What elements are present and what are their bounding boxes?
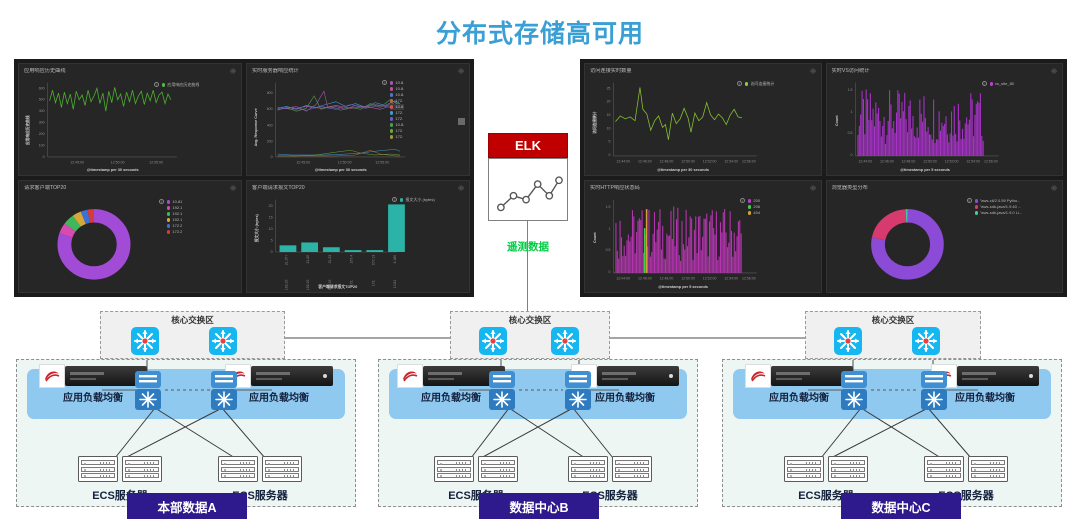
switch-icon[interactable] — [834, 327, 862, 355]
load-balancer-label: 应用负载均衡 — [225, 389, 333, 404]
svg-text:12:50:00: 12:50:00 — [923, 160, 937, 164]
panel-app-response-history[interactable]: 应用响应历史曲线 600 500 400 300 200 100 0 应用响应历… — [18, 63, 242, 176]
plot-area: 1.5 1 0.5 0 Count 12:44:00 12:46:00 12:4… — [585, 192, 821, 292]
legend: i vs_site_80 — [990, 81, 1015, 87]
core-switch-zone-c: 核心交换区 — [805, 311, 981, 359]
svg-text:12:54:00: 12:54:00 — [966, 160, 980, 164]
server-icon[interactable] — [434, 456, 474, 482]
svg-text:21.26: 21.26 — [306, 255, 310, 264]
legend-item[interactable]: "aws-sdk-java/1.9.0 Li... — [975, 210, 1023, 216]
panel-server-response-stats[interactable]: 实时服务器响应统计 800 600 400 200 0 Avg. Respons… — [246, 63, 470, 176]
svg-text:192.16: 192.16 — [284, 280, 288, 291]
server-icon[interactable] — [218, 456, 258, 482]
server-icon[interactable] — [262, 456, 302, 482]
dashboard-right: 访问连接实时数量 25 20 15 10 5 0 访问连接统计 12:44:00… — [580, 59, 1067, 297]
brand-logo-icon — [745, 364, 771, 388]
info-icon[interactable]: i — [982, 81, 987, 86]
svg-text:1.5: 1.5 — [606, 205, 611, 209]
svg-text:访问连接统计: 访问连接统计 — [592, 111, 597, 133]
svg-text:12:46:00: 12:46:00 — [638, 160, 652, 164]
load-balancer-device — [39, 364, 147, 388]
datacenter-badge: 本部数据A — [127, 493, 247, 519]
svg-text:21.37 l: 21.37 l — [284, 255, 288, 265]
switch-icon[interactable] — [209, 370, 239, 412]
svg-text:@timestamp per 5 seconds: @timestamp per 5 seconds — [900, 168, 950, 172]
svg-text:0: 0 — [43, 155, 45, 159]
server-icons — [431, 456, 521, 482]
legend-label: 172.2 — [172, 229, 182, 235]
server-icon[interactable] — [924, 456, 964, 482]
legend-item[interactable]: 172.2 — [167, 229, 182, 235]
core-zone-label: 核心交换区 — [806, 314, 980, 326]
panel-title: 客户端请求报文TOP20 — [252, 185, 464, 192]
elk-chart-box — [488, 158, 568, 221]
svg-text:报文大小 (bytes): 报文大小 (bytes) — [254, 213, 259, 243]
svg-text:12:55:00: 12:55:00 — [375, 161, 389, 165]
server-icon[interactable] — [612, 456, 652, 482]
svg-text:0: 0 — [609, 270, 611, 274]
datacenter-b: 应用负载均衡 应用负载均衡 ECS服务器 ECS服务器 数据中心B — [378, 359, 698, 507]
svg-text:3.186: 3.186 — [393, 255, 397, 264]
gear-icon[interactable] — [810, 68, 816, 74]
svg-text:20: 20 — [607, 100, 611, 104]
core-zone-label: 核心交换区 — [451, 314, 609, 326]
svg-text:12:56:00: 12:56:00 — [742, 277, 756, 281]
panel-client-payload-top20[interactable]: 客户端请求报文TOP20 20 15 10 5 0 报文大小 (bytes) 2… — [246, 180, 470, 293]
svg-text:200: 200 — [39, 132, 45, 136]
svg-text:10: 10 — [269, 227, 273, 231]
plot-area — [827, 192, 1063, 292]
svg-text:12:55:00: 12:55:00 — [149, 161, 163, 165]
plot-area — [19, 192, 241, 292]
load-balancer-left[interactable]: 应用负载均衡 — [745, 364, 853, 406]
brand-logo-icon — [397, 364, 423, 388]
panel-title: 请求客户端TOP20 — [24, 185, 236, 192]
switch-icon[interactable] — [209, 327, 237, 355]
legend-item[interactable]: vs_site_80 — [990, 81, 1015, 87]
svg-text:12:44:00: 12:44:00 — [616, 160, 630, 164]
svg-text:12:50:00: 12:50:00 — [111, 161, 125, 165]
server-icon[interactable] — [78, 456, 118, 482]
svg-text:Count: Count — [834, 115, 838, 126]
datacenter-c: 应用负载均衡 应用负载均衡 ECS服务器 ECS服务器 数据中心C — [722, 359, 1062, 507]
server-icon[interactable] — [784, 456, 824, 482]
svg-text:100: 100 — [39, 143, 45, 147]
svg-text:12:44:00: 12:44:00 — [858, 160, 872, 164]
svg-text:0: 0 — [609, 153, 611, 157]
server-icon[interactable] — [478, 456, 518, 482]
legend-item[interactable]: 404 — [748, 210, 760, 216]
telemetry-label: 遥测数据 — [488, 239, 568, 254]
info-icon[interactable]: i — [159, 199, 164, 204]
legend: i 应用响应历史曲线 — [162, 82, 199, 88]
svg-text:12:52:00: 12:52:00 — [703, 160, 717, 164]
switch-icon[interactable] — [133, 370, 163, 412]
server-icons — [565, 456, 655, 482]
svg-text:1: 1 — [850, 110, 852, 114]
svg-text:192.16: 192.16 — [306, 280, 310, 291]
svg-text:12:50:00: 12:50:00 — [681, 160, 695, 164]
legend: i "aws-cli/2.0.59 Pytho... "aws-sdk-java… — [975, 198, 1023, 216]
svg-text:12:48:00: 12:48:00 — [660, 277, 674, 281]
svg-text:@timestamp per 30 seconds: @timestamp per 30 seconds — [657, 168, 709, 172]
svg-text:600: 600 — [39, 86, 45, 90]
datacenter-badge: 数据中心C — [841, 493, 961, 519]
legend: i 10.81 192.1 192.1 192.1 172.2 172.2 — [167, 199, 182, 235]
svg-text:12:50:00: 12:50:00 — [338, 161, 352, 165]
plot-area: 25 20 15 10 5 0 访问连接统计 12:44:00 12:46:00… — [585, 75, 821, 175]
svg-text:@timestamp per 30 seconds: @timestamp per 30 seconds — [315, 168, 367, 172]
legend-label: "aws-sdk-java/1.9.0 Li... — [980, 210, 1022, 216]
panel-title: 访问连接实时数量 — [590, 68, 816, 75]
panel-resize-handle[interactable] — [458, 118, 465, 125]
load-balancer-left[interactable]: 应用负载均衡 — [39, 364, 147, 406]
svg-text:0: 0 — [271, 155, 273, 159]
svg-text:20: 20 — [269, 204, 273, 208]
legend-swatch — [162, 83, 165, 86]
switch-icon[interactable] — [487, 370, 517, 412]
page-title: 分布式存储高可用 — [0, 14, 1080, 50]
server-icons — [215, 456, 305, 482]
svg-text:@timestamp per 30 seconds: @timestamp per 30 seconds — [87, 168, 139, 172]
svg-text:10: 10 — [607, 126, 611, 130]
svg-text:12:45:00: 12:45:00 — [296, 161, 310, 165]
svg-text:167.4: 167.4 — [350, 255, 354, 264]
server-icon[interactable] — [122, 456, 162, 482]
info-icon[interactable]: i — [392, 197, 397, 202]
load-balancer-label: 应用负载均衡 — [745, 389, 853, 404]
svg-text:0: 0 — [271, 250, 273, 254]
gear-icon[interactable] — [458, 68, 464, 74]
datacenter-a: 应用负载均衡 应用负载均衡 ECS服务器 ECS服务 — [16, 359, 356, 507]
info-icon[interactable]: i — [967, 198, 972, 203]
dashboard-left: 应用响应历史曲线 600 500 400 300 200 100 0 应用响应历… — [14, 59, 474, 297]
svg-text:12:56:00: 12:56:00 — [742, 160, 756, 164]
svg-text:0: 0 — [850, 153, 852, 157]
svg-text:客户端请求报文TOP20: 客户端请求报文TOP20 — [317, 284, 357, 289]
load-balancer-right[interactable]: 应用负载均衡 — [225, 364, 333, 406]
svg-text:12:56:00: 12:56:00 — [984, 160, 998, 164]
legend: i 报文大小 (bytes) — [400, 197, 435, 203]
info-icon[interactable]: i — [740, 198, 745, 203]
plot-area: 20 15 10 5 0 报文大小 (bytes) 21.37 l 21.26 … — [247, 192, 469, 292]
switch-icon[interactable] — [912, 327, 940, 355]
svg-text:10.81: 10.81 — [393, 280, 397, 289]
elk-connector-line — [527, 221, 528, 314]
svg-text:21.23: 21.23 — [328, 255, 332, 264]
legend-item[interactable]: 应用响应历史曲线 — [162, 82, 199, 88]
legend-item[interactable]: 172. — [390, 134, 404, 140]
svg-text:600: 600 — [267, 107, 273, 111]
panel-title: 应用响应历史曲线 — [24, 68, 236, 75]
server-icons — [781, 456, 871, 482]
svg-text:应用响应历史曲线: 应用响应历史曲线 — [25, 115, 30, 145]
svg-text:172.: 172. — [371, 280, 375, 287]
server-icon[interactable] — [568, 456, 608, 482]
appliance-chassis — [597, 366, 679, 386]
panel-connection-count[interactable]: 访问连接实时数量 25 20 15 10 5 0 访问连接统计 12:44:00… — [584, 63, 822, 176]
svg-text:1.5: 1.5 — [847, 88, 852, 92]
svg-text:12:48:00: 12:48:00 — [901, 160, 915, 164]
server-icons — [921, 456, 1011, 482]
legend: i 200 206 404 — [748, 198, 760, 216]
info-icon[interactable]: i — [382, 80, 387, 85]
svg-text:Count: Count — [593, 232, 597, 243]
legend-label: 172. — [395, 134, 403, 140]
info-icon[interactable]: i — [737, 81, 742, 86]
svg-text:12:48:00: 12:48:00 — [660, 160, 674, 164]
chassis-indicator — [323, 374, 327, 378]
panel-title: 实时服务器响应统计 — [252, 68, 464, 75]
svg-text:12:50:00: 12:50:00 — [681, 277, 695, 281]
gear-icon[interactable] — [230, 185, 236, 191]
svg-text:0.5: 0.5 — [606, 248, 611, 252]
load-balancer-label: 应用负载均衡 — [39, 389, 147, 404]
load-balancer-device — [225, 364, 333, 388]
svg-text:5: 5 — [609, 140, 611, 144]
datacenter-badge: 数据中心B — [479, 493, 599, 519]
legend: i 10.8. 10.8. 10.8. 172. 10.8. 172. 172.… — [390, 80, 404, 140]
switch-icon[interactable] — [479, 327, 507, 355]
svg-text:12:45:00: 12:45:00 — [70, 161, 84, 165]
legend-label: 404 — [753, 210, 760, 216]
plot-area: 1.5 1 0.5 0 Count 12:44:00 12:46:00 12:4… — [827, 75, 1063, 175]
svg-text:400: 400 — [39, 109, 45, 113]
brand-logo-icon — [39, 364, 65, 388]
svg-text:800: 800 — [267, 91, 273, 95]
legend-item[interactable]: 访问连接统计 — [745, 81, 774, 87]
svg-text:12:54:00: 12:54:00 — [724, 160, 738, 164]
svg-text:25: 25 — [607, 86, 611, 90]
panel-title: 实时HTTP响应状态码 — [590, 185, 816, 192]
svg-text:12:46:00: 12:46:00 — [638, 277, 652, 281]
gear-icon[interactable] — [1051, 185, 1057, 191]
svg-text:15: 15 — [607, 113, 611, 117]
switch-icon[interactable] — [551, 327, 579, 355]
appliance-chassis — [251, 366, 333, 386]
panel-title: 实时VS访问统计 — [832, 68, 1058, 75]
server-icon[interactable] — [828, 456, 868, 482]
svg-text:15: 15 — [269, 216, 273, 220]
legend-label: 应用响应历史曲线 — [167, 82, 199, 88]
svg-text:500: 500 — [39, 98, 45, 102]
gear-icon[interactable] — [1051, 68, 1057, 74]
svg-text:167.13: 167.13 — [371, 255, 375, 266]
appliance-chassis — [957, 366, 1039, 386]
svg-text:@timestamp per 5 seconds: @timestamp per 5 seconds — [658, 285, 708, 289]
panel-http-status-codes[interactable]: 实时HTTP响应状态码 1.5 1 0.5 0 Count 12:44:00 1… — [584, 180, 822, 293]
gear-icon[interactable] — [458, 185, 464, 191]
legend: i 访问连接统计 — [745, 81, 774, 87]
elk-header[interactable]: ELK — [488, 133, 568, 158]
gear-icon[interactable] — [230, 68, 236, 74]
legend-label: 访问连接统计 — [750, 81, 774, 87]
legend-item[interactable]: 报文大小 (bytes) — [400, 197, 435, 203]
gear-icon[interactable] — [810, 185, 816, 191]
plot-area: 800 600 400 200 0 Avg. Response Curve 12… — [247, 75, 469, 175]
svg-text:300: 300 — [39, 121, 45, 125]
svg-text:12:52:00: 12:52:00 — [703, 277, 717, 281]
core-switch-zone-a: 核心交换区 — [100, 311, 285, 359]
panel-vs-access-stats[interactable]: 实时VS访问统计 1.5 1 0.5 0 Count 12:44:00 12:4… — [826, 63, 1064, 176]
svg-text:12:54:00: 12:54:00 — [724, 277, 738, 281]
svg-text:12:46:00: 12:46:00 — [879, 160, 893, 164]
chassis-slot — [70, 378, 96, 380]
server-icons — [75, 456, 165, 482]
core-zone-label: 核心交换区 — [101, 314, 284, 326]
chassis-slot — [256, 372, 290, 375]
load-balancer-device — [745, 364, 853, 388]
switch-icon[interactable] — [919, 370, 949, 412]
switch-icon[interactable] — [839, 370, 869, 412]
svg-text:12:44:00: 12:44:00 — [616, 277, 630, 281]
chassis-slot — [70, 372, 104, 375]
switch-icon[interactable] — [563, 370, 593, 412]
chassis-slot — [256, 378, 282, 380]
core-switch-zone-b: 核心交换区 — [450, 311, 610, 359]
info-icon[interactable]: i — [154, 82, 159, 87]
svg-text:1: 1 — [609, 227, 611, 231]
svg-text:12:52:00: 12:52:00 — [944, 160, 958, 164]
server-icon[interactable] — [968, 456, 1008, 482]
legend-label: 报文大小 (bytes) — [405, 197, 434, 203]
panel-browser-type-distribution[interactable]: 浏览器类型分布 i "aws-cli/2.0.59 Pytho... "aws-… — [826, 180, 1064, 293]
svg-text:400: 400 — [267, 123, 273, 127]
panel-title: 浏览器类型分布 — [832, 185, 1058, 192]
svg-text:5: 5 — [271, 239, 273, 243]
legend-label: vs_site_80 — [995, 81, 1014, 87]
svg-text:Avg. Response Curve: Avg. Response Curve — [254, 108, 258, 146]
svg-text:0.5: 0.5 — [847, 131, 852, 135]
svg-text:200: 200 — [267, 140, 273, 144]
panel-client-request-top20[interactable]: 请求客户端TOP20 i 10.81 192.1 192.1 192.1 — [18, 180, 242, 293]
switch-icon[interactable] — [131, 327, 159, 355]
plot-area: 600 500 400 300 200 100 0 应用响应历史曲线 12:45… — [19, 75, 241, 175]
